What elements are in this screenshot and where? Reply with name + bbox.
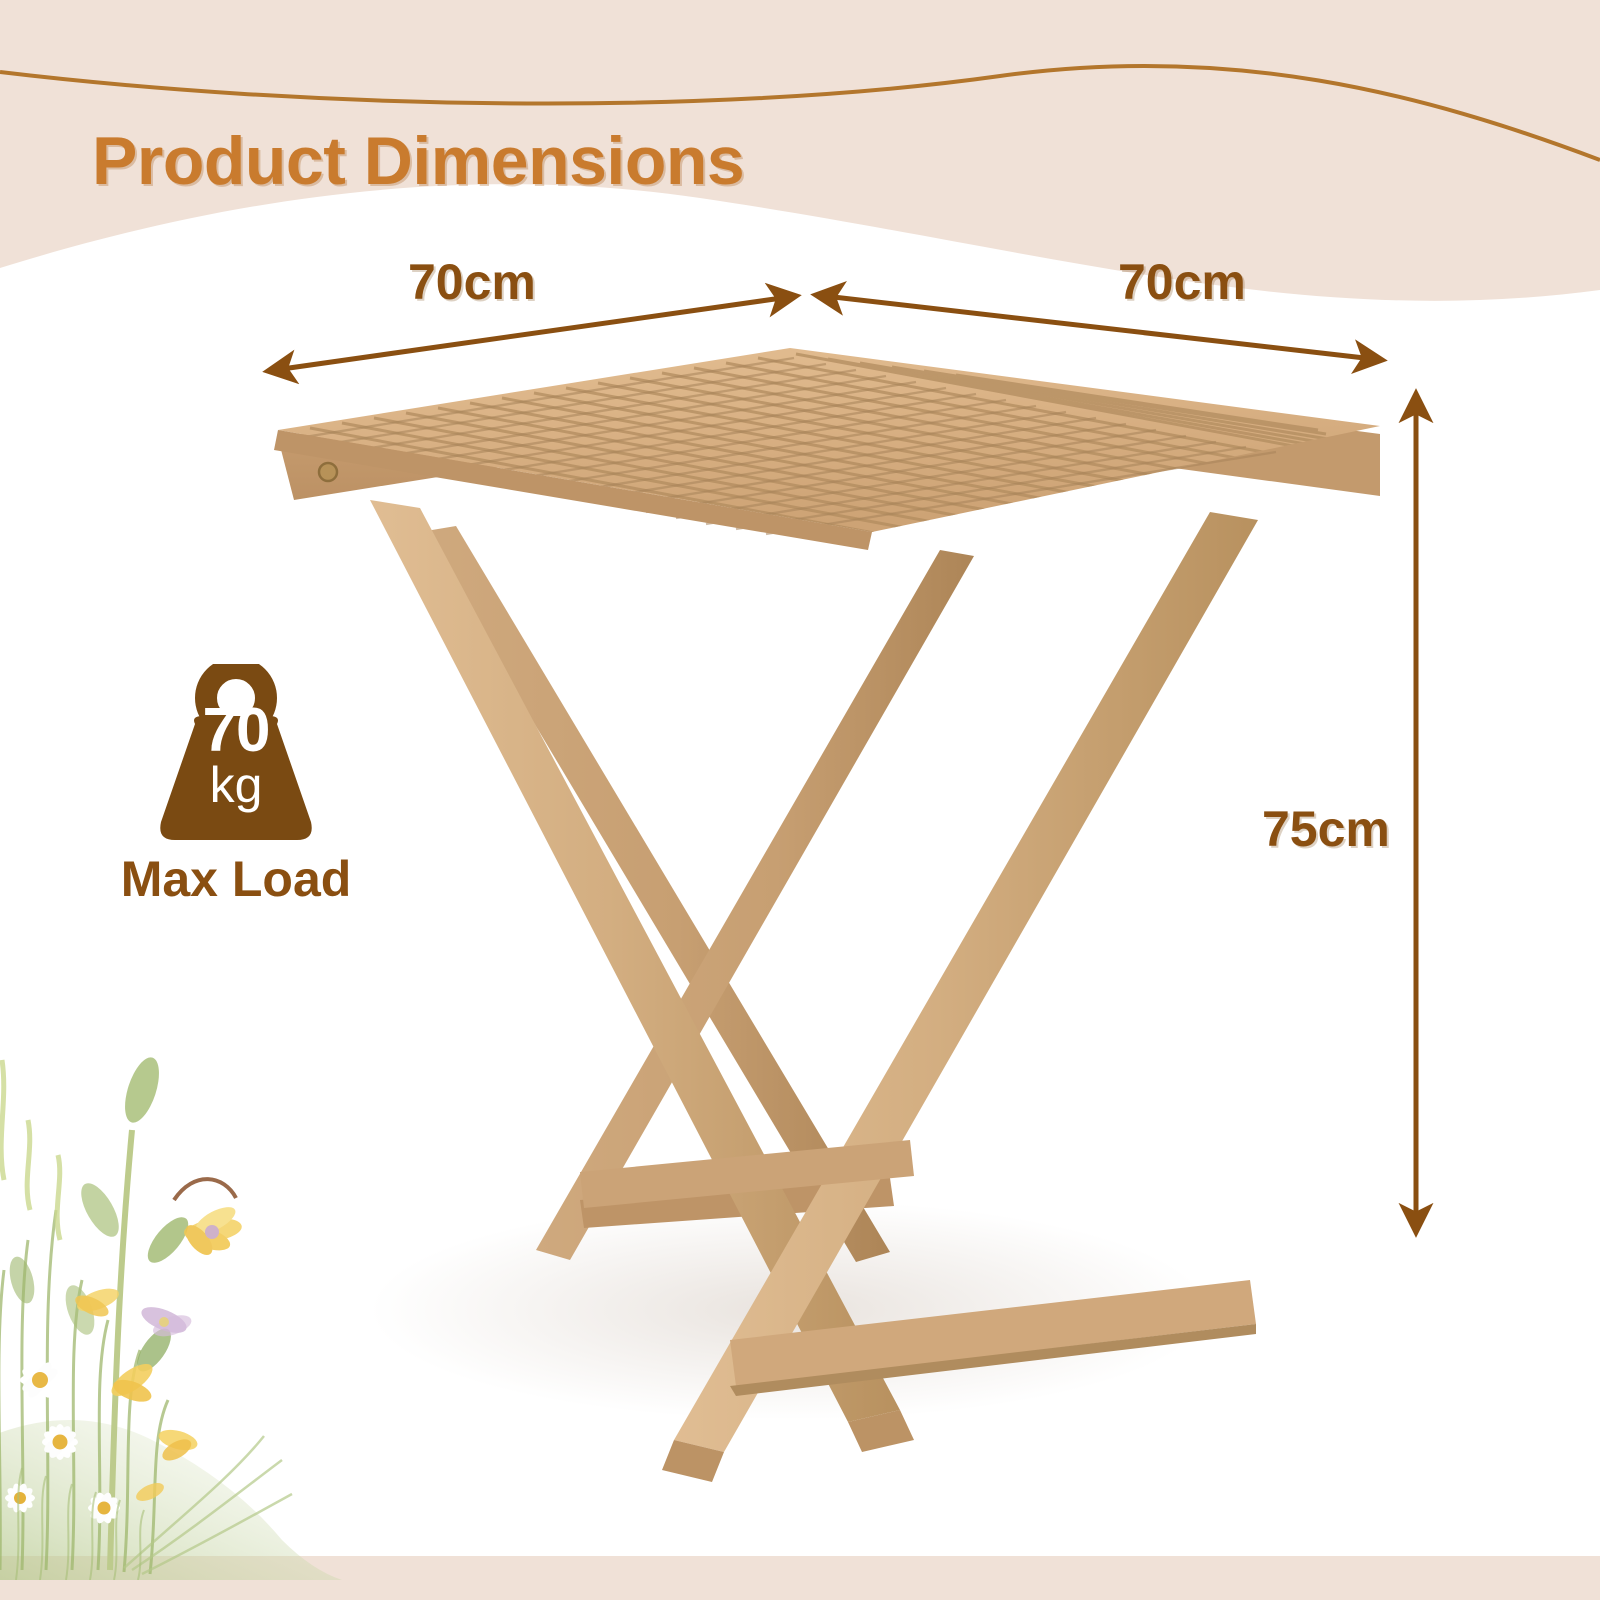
max-load-value: 70 [151, 700, 321, 762]
flower-decoration [0, 880, 342, 1580]
dimension-label-width-left: 70cm [408, 253, 536, 311]
max-load-badge: 70 kg Max Load [86, 664, 386, 908]
dimension-label-width-right: 70cm [1118, 253, 1246, 311]
arrow-width-right [816, 295, 1382, 360]
infographic-canvas: Product Dimensions [0, 0, 1600, 1600]
weight-icon: 70 kg [151, 664, 321, 844]
dimension-label-height: 75cm [1262, 800, 1390, 858]
lilac-flower [138, 1302, 194, 1341]
seed-heads [1, 1060, 60, 1240]
max-load-unit: kg [151, 760, 321, 810]
